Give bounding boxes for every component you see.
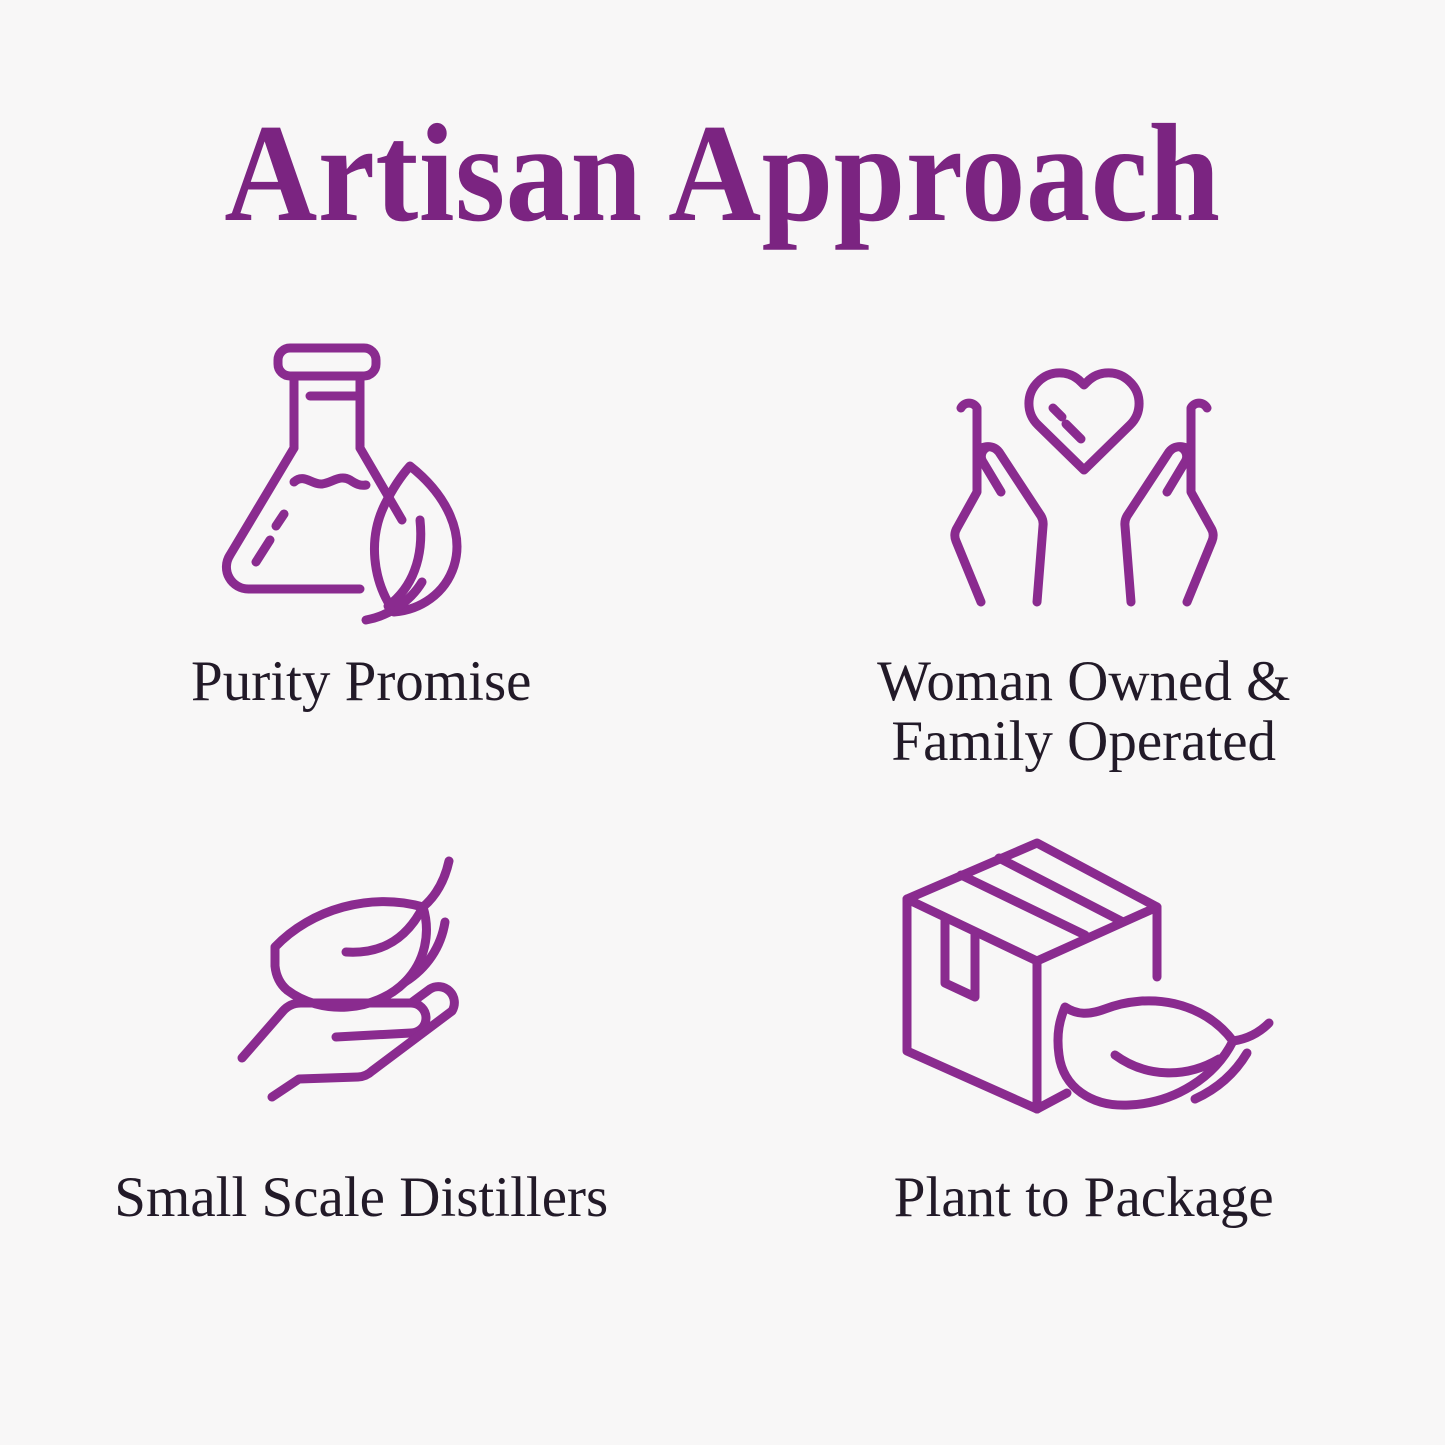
page-title: Artisan Approach bbox=[224, 104, 1220, 244]
hands-heart-icon bbox=[929, 340, 1239, 620]
box-leaf-icon-box bbox=[889, 830, 1279, 1120]
feature-grid: Purity Promise bbox=[0, 330, 1445, 1300]
feature-label: Plant to Package bbox=[894, 1168, 1274, 1228]
feature-item-purity-promise: Purity Promise bbox=[0, 330, 723, 830]
box-leaf-icon bbox=[889, 835, 1279, 1115]
page-title-wrap: Artisan Approach bbox=[0, 104, 1445, 244]
hands-heart-icon-box bbox=[929, 330, 1239, 630]
flask-leaf-icon bbox=[206, 330, 506, 630]
feature-label: Woman Owned & Family Operated bbox=[877, 652, 1290, 773]
feature-item-plant-to-package: Plant to Package bbox=[723, 830, 1445, 1300]
leaf-in-hand-icon-box bbox=[226, 830, 496, 1120]
feature-item-small-scale-distillers: Small Scale Distillers bbox=[0, 830, 723, 1300]
leaf-in-hand-icon bbox=[226, 845, 496, 1105]
flask-leaf-icon-box bbox=[206, 330, 516, 630]
artisan-approach-graphic: Artisan Approach bbox=[0, 0, 1445, 1445]
feature-label: Small Scale Distillers bbox=[114, 1168, 608, 1228]
feature-label: Purity Promise bbox=[191, 652, 531, 712]
feature-item-woman-owned: Woman Owned & Family Operated bbox=[723, 330, 1445, 830]
